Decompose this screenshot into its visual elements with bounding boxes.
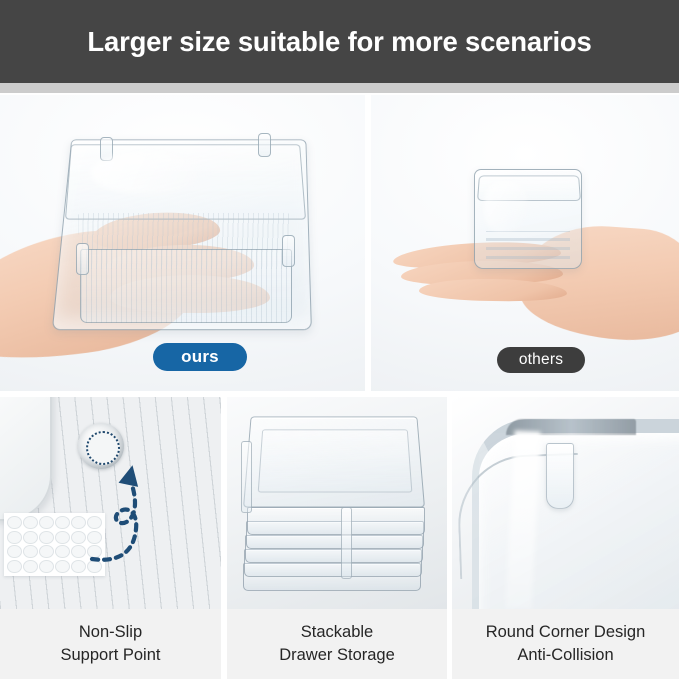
pad xyxy=(7,545,22,558)
features-row: Non-Slip Support Point xyxy=(0,397,679,679)
tray-layer xyxy=(247,507,425,535)
pad xyxy=(55,531,70,544)
corner-grip-tab xyxy=(546,443,574,509)
tray-cavity xyxy=(258,429,413,492)
pad xyxy=(23,531,38,544)
pad xyxy=(23,545,38,558)
pad xyxy=(39,531,54,544)
feature-cell-stackable: Stackable Drawer Storage xyxy=(227,397,447,679)
small-container-product xyxy=(474,169,582,269)
round-corner-photo xyxy=(452,397,679,609)
feature-cell-nonslip: Non-Slip Support Point xyxy=(0,397,221,679)
stackable-photo xyxy=(227,397,447,609)
tray-rear-notch-right xyxy=(258,133,271,157)
tray-side-notch-right xyxy=(282,235,295,267)
header-divider-strip xyxy=(0,83,679,93)
pad xyxy=(7,516,22,529)
stack-top-tray xyxy=(243,416,425,507)
caption-line-1: Round Corner Design xyxy=(486,621,646,644)
container-highlight xyxy=(484,181,528,233)
pad xyxy=(7,560,22,573)
pad xyxy=(55,560,70,573)
application-arrow-icon xyxy=(86,455,172,567)
pad xyxy=(55,516,70,529)
caption-line-2: Anti-Collision xyxy=(517,644,613,667)
others-badge: others xyxy=(497,347,585,373)
pad xyxy=(39,560,54,573)
stack-notch-left xyxy=(241,441,252,513)
tray-highlight xyxy=(90,151,210,195)
pad xyxy=(71,560,86,573)
nonslip-photo xyxy=(0,397,221,609)
feature-cell-round-corner: Round Corner Design Anti-Collision xyxy=(452,397,679,679)
tray-front-wall xyxy=(80,249,292,323)
pad xyxy=(71,545,86,558)
caption-line-2: Drawer Storage xyxy=(279,644,395,667)
caption-stackable: Stackable Drawer Storage xyxy=(227,609,447,679)
caption-round-corner: Round Corner Design Anti-Collision xyxy=(452,609,679,679)
pad xyxy=(39,545,54,558)
comparison-row xyxy=(0,95,679,391)
page-title: Larger size suitable for more scenarios xyxy=(87,26,591,58)
pad xyxy=(55,545,70,558)
pad xyxy=(39,516,54,529)
header-banner: Larger size suitable for more scenarios xyxy=(0,0,679,83)
pad xyxy=(7,531,22,544)
caption-line-1: Non-Slip xyxy=(79,621,142,644)
caption-line-1: Stackable xyxy=(301,621,373,644)
large-tray-product xyxy=(62,131,307,327)
container-vent-slots xyxy=(486,231,570,259)
infographic-page: Larger size suitable for more scenarios xyxy=(0,0,679,679)
pad xyxy=(23,560,38,573)
stacked-trays-icon xyxy=(241,411,433,593)
caption-line-2: Support Point xyxy=(61,644,161,667)
ours-badge: ours xyxy=(153,343,247,371)
tray-side-notch-left xyxy=(76,243,89,275)
pad xyxy=(71,531,86,544)
caption-nonslip: Non-Slip Support Point xyxy=(0,609,221,679)
pad xyxy=(71,516,86,529)
stack-notch-right xyxy=(341,507,352,579)
pad xyxy=(23,516,38,529)
